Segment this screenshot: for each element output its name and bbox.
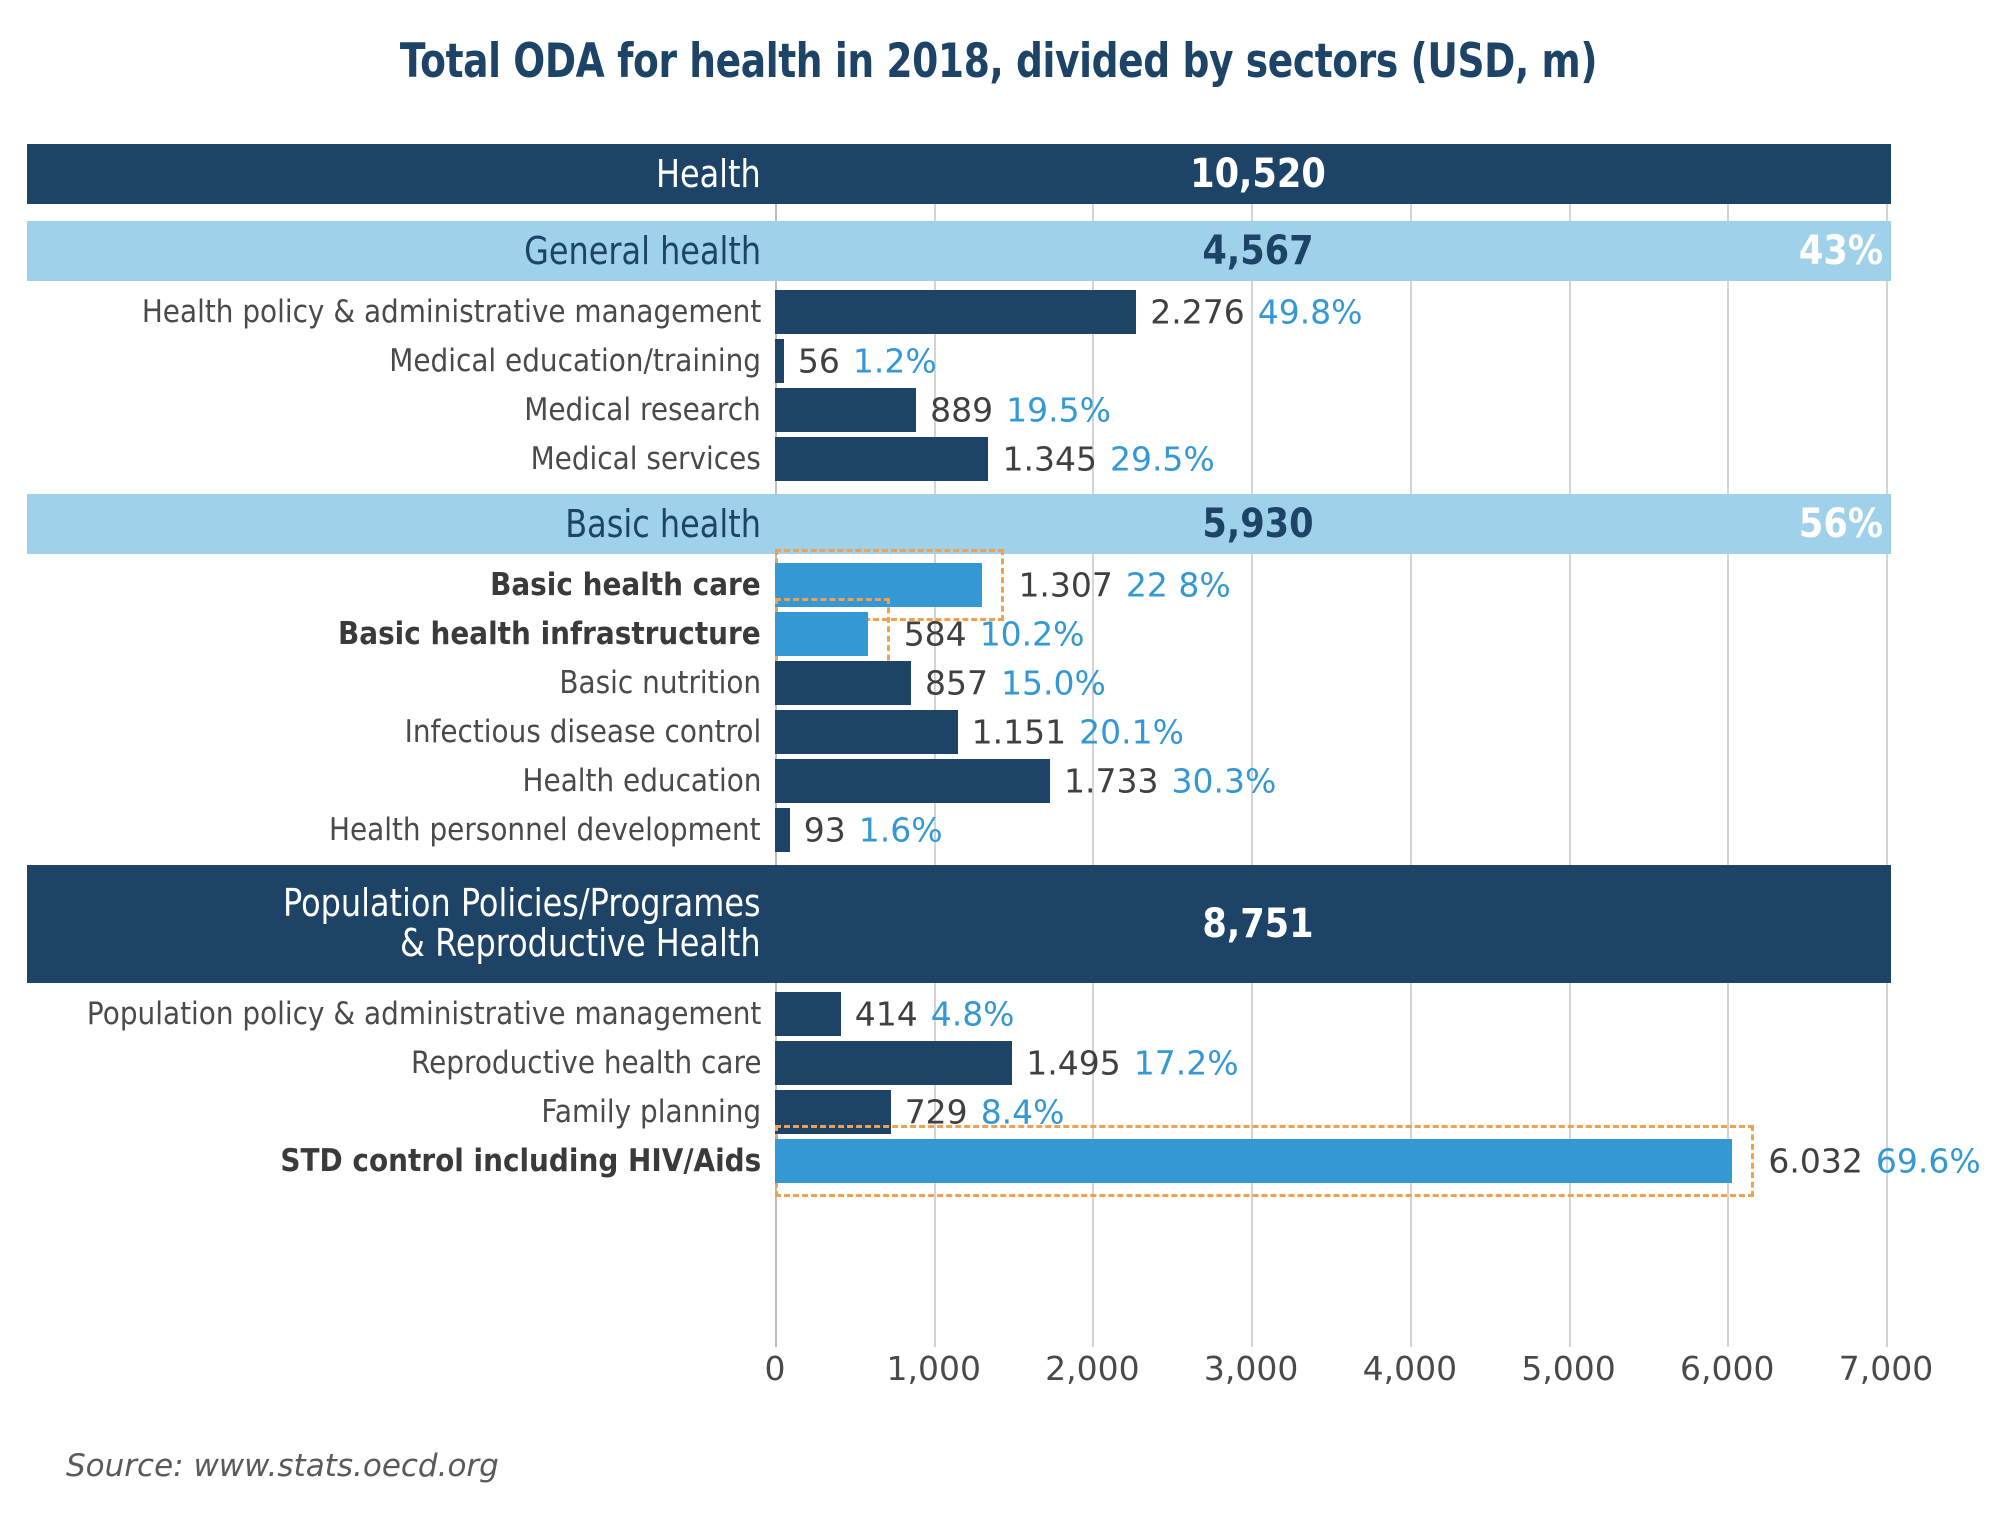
row-label: Family planning bbox=[27, 1087, 775, 1136]
row-label-text: Basic nutrition bbox=[559, 665, 761, 701]
row-value-zone: 85715.0% bbox=[775, 658, 1891, 707]
chart-row: Medical education/training561.2% bbox=[27, 336, 1891, 385]
row-value-zone: 1.30722 8% bbox=[775, 560, 1891, 609]
row-value-zone: 10,520 bbox=[775, 144, 1891, 204]
x-tick-label: 1,000 bbox=[886, 1349, 980, 1388]
bar bbox=[775, 1139, 1732, 1183]
bar bbox=[775, 612, 868, 656]
bar-value-label: 1.73330.3% bbox=[1064, 761, 1276, 800]
x-tick-label: 4,000 bbox=[1363, 1349, 1457, 1388]
bar-percent: 29.5% bbox=[1110, 439, 1215, 478]
bar-value: 93 bbox=[804, 810, 846, 849]
chart-row: Population policy & administrative manag… bbox=[27, 989, 1891, 1038]
bar-value-label: 6.03269.6% bbox=[1768, 1141, 1980, 1180]
bar bbox=[775, 339, 784, 383]
row-label-text: Health bbox=[656, 152, 761, 196]
chart-row: Health education1.73330.3% bbox=[27, 756, 1891, 805]
chart-row: Basic health infrastructure58410.2% bbox=[27, 609, 1891, 658]
bar-value: 2.276 bbox=[1150, 292, 1244, 331]
row-value-zone: 88919.5% bbox=[775, 385, 1891, 434]
row-value-zone: 5,93056% bbox=[775, 494, 1891, 554]
bar-value-label: 85715.0% bbox=[925, 663, 1106, 702]
section-header-light: General health4,56743% bbox=[27, 221, 1891, 281]
row-label: Medical education/training bbox=[27, 336, 775, 385]
x-tick-label: 6,000 bbox=[1680, 1349, 1774, 1388]
row-label-text: Health policy & administrative managemen… bbox=[142, 294, 761, 330]
x-tick-label: 7,000 bbox=[1839, 1349, 1933, 1388]
bar-percent: 22 8% bbox=[1126, 565, 1231, 604]
row-label: Population policy & administrative manag… bbox=[27, 989, 775, 1038]
row-value-zone: 4144.8% bbox=[775, 989, 1891, 1038]
bar bbox=[775, 710, 958, 754]
row-label-text: Reproductive health care bbox=[410, 1045, 761, 1081]
bar-percent: 49.8% bbox=[1258, 292, 1363, 331]
row-label-text: Medical research bbox=[525, 392, 761, 428]
chart-row: Health policy & administrative managemen… bbox=[27, 287, 1891, 336]
section-total: 8,751 bbox=[833, 865, 1683, 983]
row-label-text: General health bbox=[524, 229, 761, 273]
x-axis: 01,0002,0003,0004,0005,0006,0007,000 bbox=[0, 1349, 1997, 1399]
row-label-text: Medical education/training bbox=[389, 343, 761, 379]
row-label: Reproductive health care bbox=[27, 1038, 775, 1087]
row-value-zone: 4,56743% bbox=[775, 221, 1891, 281]
chart-row: STD control including HIV/Aids6.03269.6% bbox=[27, 1136, 1891, 1185]
row-label: Health bbox=[27, 144, 775, 204]
row-value-zone: 1.49517.2% bbox=[775, 1038, 1891, 1087]
source-note: Source: www.stats.oecd.org bbox=[66, 1448, 499, 1484]
row-value-zone: 58410.2% bbox=[775, 609, 1891, 658]
row-label: Medical research bbox=[27, 385, 775, 434]
row-label-text: Basic health bbox=[565, 502, 761, 546]
row-label: Health education bbox=[27, 756, 775, 805]
bar-percent: 15.0% bbox=[1001, 663, 1106, 702]
chart-row: Medical research88919.5% bbox=[27, 385, 1891, 434]
row-label: Basic health bbox=[27, 494, 775, 554]
row-value-zone: 931.6% bbox=[775, 805, 1891, 854]
bar-value-label: 1.15120.1% bbox=[972, 712, 1184, 751]
bar-percent: 4.8% bbox=[931, 994, 1015, 1033]
bar bbox=[775, 808, 790, 852]
section-percent: 56% bbox=[1753, 494, 1929, 554]
bar-value-label: 1.49517.2% bbox=[1026, 1043, 1238, 1082]
row-label-text: Medical services bbox=[531, 441, 761, 477]
row-label-text: Health personnel development bbox=[329, 812, 761, 848]
row-label: Health personnel development bbox=[27, 805, 775, 854]
x-tick-label: 0 bbox=[765, 1349, 786, 1388]
bar bbox=[775, 992, 841, 1036]
bar-percent: 10.2% bbox=[980, 614, 1085, 653]
bar bbox=[775, 759, 1050, 803]
bar-value-label: 88919.5% bbox=[930, 390, 1111, 429]
row-value-zone: 561.2% bbox=[775, 336, 1891, 385]
chart-plot-area: Health10,520General health4,56743%Health… bbox=[0, 0, 1997, 1526]
bar-percent: 69.6% bbox=[1876, 1141, 1981, 1180]
row-value-zone: 1.34529.5% bbox=[775, 434, 1891, 483]
bar bbox=[775, 388, 916, 432]
bar-percent: 17.2% bbox=[1134, 1043, 1239, 1082]
section-total: 4,567 bbox=[833, 221, 1683, 281]
chart-row: Infectious disease control1.15120.1% bbox=[27, 707, 1891, 756]
row-label: Basic health infrastructure bbox=[27, 609, 775, 658]
bar-value: 889 bbox=[930, 390, 993, 429]
bar-value-label: 1.34529.5% bbox=[1002, 439, 1214, 478]
bar-value-label: 58410.2% bbox=[904, 614, 1085, 653]
bar-value: 56 bbox=[798, 341, 840, 380]
bar-value-label: 561.2% bbox=[798, 341, 937, 380]
row-label-text: Health education bbox=[522, 763, 761, 799]
bar-value-label: 2.27649.8% bbox=[1150, 292, 1362, 331]
section-total: 10,520 bbox=[833, 144, 1683, 204]
bar-percent: 19.5% bbox=[1006, 390, 1111, 429]
bar-value: 1.733 bbox=[1064, 761, 1158, 800]
row-label-text: Population Policies/Programes& Reproduct… bbox=[283, 884, 761, 964]
row-label-text: Basic health infrastructure bbox=[338, 616, 761, 652]
section-header-light: Basic health5,93056% bbox=[27, 494, 1891, 554]
bar-value-label: 931.6% bbox=[804, 810, 943, 849]
section-percent: 43% bbox=[1753, 221, 1929, 281]
row-label-text: Basic health care bbox=[490, 567, 761, 603]
bar-value: 584 bbox=[904, 614, 967, 653]
row-label: Basic health care bbox=[27, 560, 775, 609]
row-label-text: Family planning bbox=[541, 1094, 761, 1130]
chart-row: Basic nutrition85715.0% bbox=[27, 658, 1891, 707]
bar bbox=[775, 1041, 1012, 1085]
row-label: Medical services bbox=[27, 434, 775, 483]
bar-value: 1.151 bbox=[972, 712, 1066, 751]
x-tick-label: 3,000 bbox=[1204, 1349, 1298, 1388]
section-total: 5,930 bbox=[833, 494, 1683, 554]
row-value-zone: 2.27649.8% bbox=[775, 287, 1891, 336]
chart-row: Medical services1.34529.5% bbox=[27, 434, 1891, 483]
chart-row: Basic health care1.30722 8% bbox=[27, 560, 1891, 609]
row-value-zone: 1.73330.3% bbox=[775, 756, 1891, 805]
bar bbox=[775, 661, 911, 705]
chart-row: Reproductive health care1.49517.2% bbox=[27, 1038, 1891, 1087]
bar-percent: 30.3% bbox=[1172, 761, 1277, 800]
row-label-text: Population policy & administrative manag… bbox=[87, 996, 761, 1032]
bar-percent: 1.6% bbox=[859, 810, 943, 849]
bar-value-label: 1.30722 8% bbox=[1018, 565, 1230, 604]
section-header-dark: Population Policies/Programes& Reproduct… bbox=[27, 865, 1891, 983]
row-label-text: STD control including HIV/Aids bbox=[280, 1143, 761, 1179]
row-value-zone: 6.03269.6% bbox=[775, 1136, 1891, 1185]
bar-value-label: 4144.8% bbox=[855, 994, 1015, 1033]
row-label-text: Infectious disease control bbox=[404, 714, 761, 750]
bar-value: 1.495 bbox=[1026, 1043, 1120, 1082]
bar-percent: 20.1% bbox=[1079, 712, 1184, 751]
row-label: Infectious disease control bbox=[27, 707, 775, 756]
x-tick-label: 5,000 bbox=[1521, 1349, 1615, 1388]
row-label: Population Policies/Programes& Reproduct… bbox=[27, 865, 775, 983]
bar-value: 1.345 bbox=[1002, 439, 1096, 478]
row-value-zone: 8,751 bbox=[775, 865, 1891, 983]
row-label: General health bbox=[27, 221, 775, 281]
bar-value: 6.032 bbox=[1768, 1141, 1862, 1180]
row-value-zone: 1.15120.1% bbox=[775, 707, 1891, 756]
bar-value: 857 bbox=[925, 663, 988, 702]
row-label: Health policy & administrative managemen… bbox=[27, 287, 775, 336]
bar-value: 1.307 bbox=[1018, 565, 1112, 604]
bar-value: 414 bbox=[855, 994, 918, 1033]
bar bbox=[775, 437, 988, 481]
bar-percent: 1.2% bbox=[853, 341, 937, 380]
chart-row: Health personnel development931.6% bbox=[27, 805, 1891, 854]
bar bbox=[775, 290, 1136, 334]
row-label: Basic nutrition bbox=[27, 658, 775, 707]
row-label: STD control including HIV/Aids bbox=[27, 1136, 775, 1185]
x-tick-label: 2,000 bbox=[1045, 1349, 1139, 1388]
section-header-dark: Health10,520 bbox=[27, 144, 1891, 204]
